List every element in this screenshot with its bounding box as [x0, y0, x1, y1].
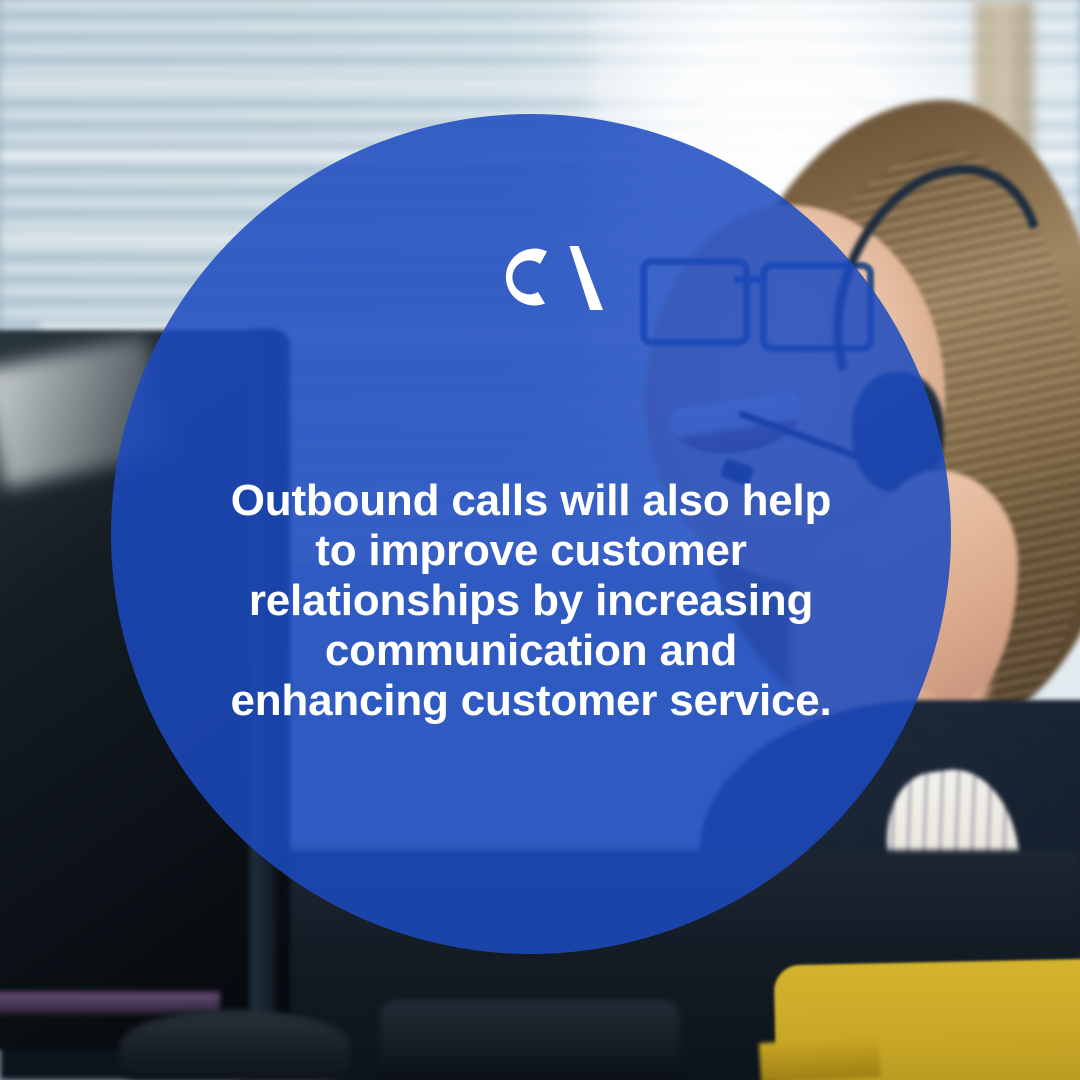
headline-line-3: relationships by increasing	[150, 576, 912, 626]
headline-text: Outbound calls will also help to improve…	[150, 476, 912, 726]
headline-line-1: Outbound calls will also help	[150, 476, 912, 526]
headline-line-2: to improve customer	[150, 526, 912, 576]
computer-mouse	[120, 1010, 350, 1080]
yellow-laptop-edge	[759, 1037, 881, 1080]
social-post-graphic: Outbound calls will also help to improve…	[0, 0, 1080, 1080]
headline-line-4: communication and	[150, 626, 912, 676]
keyboard	[0, 992, 220, 1014]
ca-monogram-logo	[485, 240, 609, 316]
desk-phone	[380, 1000, 680, 1080]
headline-line-5: enhancing customer service.	[150, 676, 912, 726]
